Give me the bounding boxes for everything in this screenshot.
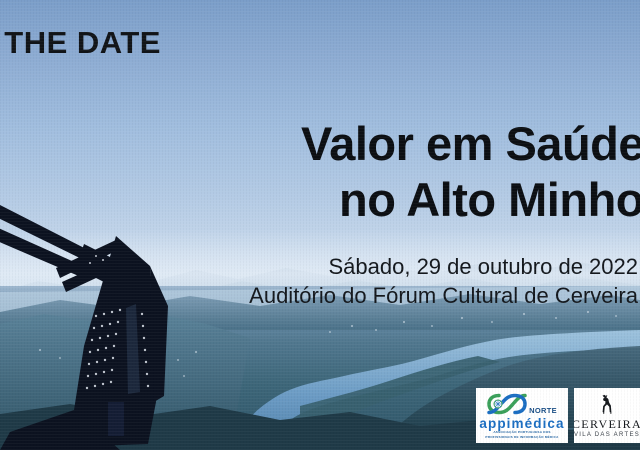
event-venue: Auditório do Fórum Cultural de Cerveira xyxy=(249,281,638,310)
save-the-date-kicker: E THE DATE xyxy=(0,27,161,58)
cerveira-logo: CERVEIRA VILA DAS ARTES xyxy=(574,388,640,443)
appimedica-region-label: NORTE xyxy=(529,407,557,416)
title-line-1: Valor em Saúde xyxy=(301,116,640,172)
poster-image: E THE DATE Valor em Saúde no Alto Minho … xyxy=(0,0,640,450)
page-title: Valor em Saúde no Alto Minho xyxy=(301,116,640,228)
appimedica-logo: NORTE appimédica ASSOCIAÇÃO PORTUGUESA D… xyxy=(476,388,568,443)
infinity-mark-icon xyxy=(487,392,527,416)
appimedica-wordmark: appimédica xyxy=(479,417,564,431)
appimedica-tagline-line2: PROFISSIONAIS DE INFORMAÇÃO MÉDICA xyxy=(485,435,558,440)
event-date: Sábado, 29 de outubro de 2022 xyxy=(249,252,638,281)
event-details: Sábado, 29 de outubro de 2022 Auditório … xyxy=(249,252,638,311)
metal-sculpture-silhouette xyxy=(0,196,200,450)
cerveira-name: CERVEIRA xyxy=(574,418,640,430)
deer-silhouette-icon xyxy=(596,394,618,416)
sponsor-logos: NORTE appimédica ASSOCIAÇÃO PORTUGUESA D… xyxy=(476,388,640,443)
cerveira-subtitle: VILA DAS ARTES xyxy=(574,432,640,438)
title-line-2: no Alto Minho xyxy=(301,172,640,228)
